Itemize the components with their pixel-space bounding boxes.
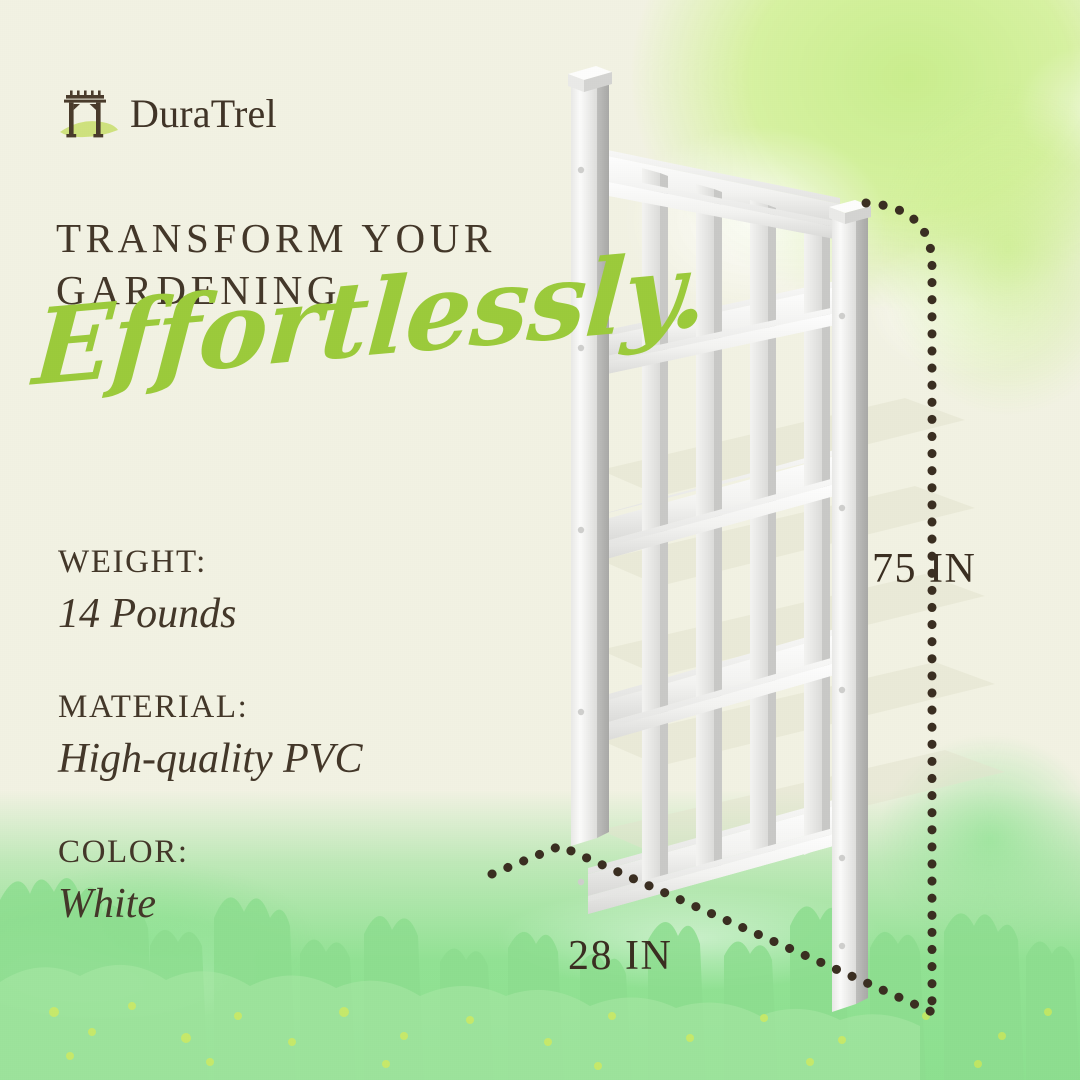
height-dimension-label: 75 IN — [872, 545, 976, 593]
width-dimension-label: 28 IN — [568, 932, 672, 980]
spec-list: WEIGHT: 14 Pounds MATERIAL: High-quality… — [58, 540, 528, 975]
spec-item-material: MATERIAL: High-quality PVC — [58, 685, 528, 786]
spec-value: White — [58, 877, 528, 932]
spec-label: MATERIAL: — [58, 685, 528, 730]
spec-value: High-quality PVC — [58, 732, 528, 787]
height-dimension-line — [866, 203, 932, 1012]
spec-label: WEIGHT: — [58, 540, 528, 585]
spec-label: COLOR: — [58, 830, 528, 875]
width-dimension-line — [492, 846, 932, 1012]
pergola-arbor-icon — [58, 84, 120, 144]
brand-name: DuraTrel — [130, 94, 277, 134]
spec-value: 14 Pounds — [58, 587, 528, 642]
brand-logo: DuraTrel — [58, 84, 277, 144]
spec-item-weight: WEIGHT: 14 Pounds — [58, 540, 528, 641]
spec-item-color: COLOR: White — [58, 830, 528, 931]
product-infographic: DuraTrel TRANSFORM YOUR GARDENING Effort… — [0, 0, 1080, 1080]
